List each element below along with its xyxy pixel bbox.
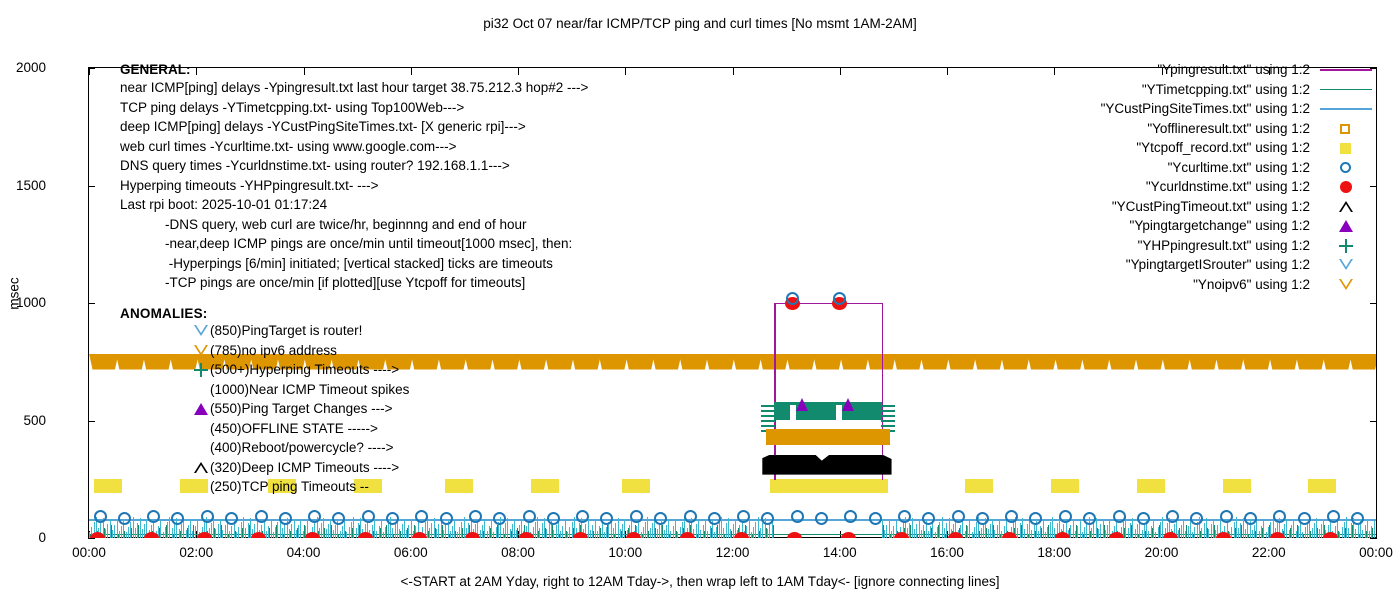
legend-label: "Ycurltime.txt" using 1:2 <box>1168 160 1310 175</box>
dns-time-marker <box>251 532 266 538</box>
hyperping-tick <box>1252 530 1253 538</box>
general-line: near ICMP[ping] delays -Ypingresult.txt … <box>120 78 588 98</box>
square-filled-icon <box>192 477 210 497</box>
hyperping-comb-tick <box>881 420 895 422</box>
curl-time-marker <box>362 510 375 523</box>
curl-time-marker <box>791 510 804 523</box>
hyperping-tick <box>670 531 671 538</box>
hyperping-tick <box>666 525 667 538</box>
legend-key <box>1316 216 1376 236</box>
hyperping-tick <box>549 524 550 538</box>
hyperping-tick <box>664 530 665 538</box>
curl-time-marker <box>1113 510 1126 523</box>
noipv6-marker <box>679 354 708 370</box>
hyperping-tick <box>767 529 768 538</box>
triangle-down-orange-icon <box>1337 275 1355 295</box>
hyperping-tick <box>726 523 727 538</box>
curl-time-marker <box>898 510 911 523</box>
hyperping-tick <box>1031 530 1032 538</box>
noipv6-marker <box>518 354 547 370</box>
hyperping-tick <box>1238 528 1239 538</box>
hyperping-comb-tick <box>761 425 775 427</box>
anomaly-row: (320)Deep ICMP Timeouts ----> <box>120 458 208 478</box>
hyperping-tick <box>650 528 651 538</box>
offline-state-band <box>766 429 889 445</box>
hyperping-tick <box>450 531 451 538</box>
curl-time-marker <box>255 510 268 523</box>
curl-time-marker <box>1166 510 1179 523</box>
hyperping-tick <box>921 530 922 538</box>
legend-label: "Ypingtargetchange" using 1:2 <box>1130 218 1310 233</box>
general-line: -DNS query, web curl are twice/hr, begin… <box>120 215 588 235</box>
curl-time-marker <box>1220 510 1233 523</box>
hyperping-tick <box>266 531 267 538</box>
dns-time-marker <box>1270 532 1285 538</box>
x-tick-label: 06:00 <box>376 545 446 560</box>
dns-time-marker <box>680 532 695 538</box>
hyperping-tick <box>994 530 995 538</box>
curl-time-marker <box>952 510 965 523</box>
tcp-timeout-block <box>531 479 559 493</box>
hyperping-tick <box>935 532 936 538</box>
hyperping-tick <box>1045 532 1046 538</box>
hyperping-tick <box>133 517 134 538</box>
noipv6-marker <box>1215 354 1244 370</box>
hyperping-tick <box>1080 521 1081 538</box>
hyperping-tick <box>231 526 232 538</box>
curl-time-marker <box>493 512 506 525</box>
curl-time-marker <box>1190 512 1203 525</box>
hyperping-tick <box>595 520 596 538</box>
x-tick-label: 08:00 <box>483 545 553 560</box>
noipv6-marker <box>1027 354 1056 370</box>
hyperping-tick <box>505 523 506 538</box>
hyperping-tick <box>615 523 616 538</box>
hyperping-tick <box>974 527 975 538</box>
hyperping-tick <box>1374 521 1375 538</box>
hyperping-tick <box>1263 521 1264 538</box>
noipv6-marker <box>1242 354 1271 370</box>
hyperping-tick <box>1256 520 1257 538</box>
legend-key <box>1316 236 1376 256</box>
hyperping-tick <box>326 529 327 538</box>
tcp-timeout-block <box>94 479 122 493</box>
hyperping-tick <box>298 525 299 538</box>
hyperping-tick <box>886 525 887 538</box>
hyperping-tick <box>222 530 223 538</box>
hyperping-tick <box>493 532 494 538</box>
legend-key <box>1316 158 1376 178</box>
tcp-timeout-block <box>965 479 993 493</box>
hyperping-tick <box>700 530 701 538</box>
hyperping-tick <box>174 523 175 538</box>
curl-time-marker <box>1137 512 1150 525</box>
hyperping-tick <box>436 529 437 538</box>
anomaly-marker <box>192 477 210 497</box>
noipv6-marker <box>813 354 842 370</box>
hyperping-tick <box>383 532 384 538</box>
legend-entry: "Ycurltime.txt" using 1:2 <box>1066 158 1376 178</box>
anomaly-row: (250)TCP ping Timeouts -- <box>120 477 208 497</box>
hyperping-tick <box>443 530 444 538</box>
hyperping-tick <box>1132 518 1133 538</box>
anomaly-row: (785)no ipv6 address <box>120 341 208 361</box>
hyperping-tick <box>140 518 141 538</box>
general-line: -TCP pings are once/min [if plotted][use… <box>120 273 588 293</box>
curl-time-marker <box>547 512 560 525</box>
hyperping-tick <box>121 526 122 538</box>
curl-time-marker <box>1273 510 1286 523</box>
anomaly-marker <box>192 399 210 419</box>
hyperping-tick <box>1093 523 1094 538</box>
y-axis-label: msec <box>7 259 22 329</box>
hyperping-tick <box>1038 531 1039 538</box>
general-line: deep ICMP[ping] delays -YCustPingSiteTim… <box>120 117 588 137</box>
hyperping-tick <box>376 531 377 538</box>
hyperping-tick <box>142 529 143 538</box>
curl-time-marker <box>576 510 589 523</box>
hyperping-tick <box>349 527 350 538</box>
hyperping-tick <box>1293 520 1294 538</box>
hyperping-tick <box>1128 528 1129 538</box>
noipv6-marker <box>1162 354 1191 370</box>
hyperping-tick <box>1022 518 1023 538</box>
hyperping-tick <box>560 531 561 538</box>
hyperping-tick <box>119 531 120 538</box>
hyperping-tick <box>487 531 488 538</box>
hyperping-tick <box>1355 529 1356 538</box>
hyperping-tick <box>969 521 970 538</box>
noipv6-marker <box>1269 354 1298 370</box>
general-line: TCP ping delays -YTimetcpping.txt- using… <box>120 98 588 118</box>
hyperping-tick <box>1342 527 1343 538</box>
hyperping-tick <box>719 522 720 538</box>
hyperping-tick <box>1142 530 1143 538</box>
hyperping-tick <box>273 532 274 538</box>
hyperping-tick <box>388 522 389 538</box>
dns-time-marker <box>1163 532 1178 538</box>
noipv6-marker <box>464 354 493 370</box>
hyperping-tick <box>981 528 982 538</box>
noipv6-marker <box>1135 354 1164 370</box>
x-tick-label: 04:00 <box>269 545 339 560</box>
curl-time-marker <box>1327 510 1340 523</box>
hyperping-tick <box>229 531 230 538</box>
hyperping-tick <box>1043 521 1044 538</box>
offline-gap <box>790 405 796 421</box>
anomaly-row: (550)Ping Target Changes ---> <box>120 399 208 419</box>
curl-time-marker <box>654 512 667 525</box>
anomaly-text: (450)OFFLINE STATE -----> <box>210 419 378 439</box>
hyperping-tick <box>762 523 763 538</box>
curl-time-marker <box>118 512 131 525</box>
legend-entry: "YCustPingSiteTimes.txt" using 1:2 <box>1066 99 1376 119</box>
dns-time-marker <box>573 532 588 538</box>
hyperping-tick <box>514 519 515 538</box>
legend-label: "Ytcpoff_record.txt" using 1:2 <box>1136 140 1310 155</box>
hyperping-tick <box>652 523 653 538</box>
noipv6-marker <box>1001 354 1030 370</box>
hyperping-tick <box>1084 527 1085 538</box>
hyperping-tick <box>1208 529 1209 538</box>
hyperping-tick <box>353 517 354 538</box>
hyperping-tick <box>429 528 430 538</box>
hyperping-tick <box>335 525 336 538</box>
hyperping-tick <box>1070 525 1071 538</box>
x-tick-label: 00:00 <box>54 545 124 560</box>
hyperping-tick <box>245 528 246 538</box>
triangle-up-filled-icon <box>1337 216 1355 236</box>
x-tick-label: 18:00 <box>1019 545 1089 560</box>
hyperping-tick <box>588 519 589 538</box>
hyperping-tick <box>1050 522 1051 538</box>
legend-key <box>1316 119 1376 139</box>
hyperping-tick <box>491 521 492 538</box>
hyperping-tick <box>914 529 915 538</box>
hyperping-tick <box>1153 521 1154 538</box>
hyperping-tick <box>1135 529 1136 538</box>
curl-time-marker <box>279 512 292 525</box>
hyperping-tick <box>431 523 432 538</box>
hyperping-tick <box>535 522 536 538</box>
hyperping-tick <box>942 517 943 538</box>
plus-icon <box>1337 236 1355 256</box>
hyperping-tick <box>976 522 977 538</box>
noipv6-marker <box>1322 354 1351 370</box>
dns-time-marker <box>734 532 749 538</box>
hyperping-tick <box>128 527 129 538</box>
tcp-tick <box>773 525 774 538</box>
legend-label: "Yofflineresult.txt" using 1:2 <box>1147 121 1310 136</box>
hyperping-tick <box>112 530 113 538</box>
hyperping-tick <box>1052 517 1053 538</box>
triangle-down-open-icon <box>192 321 210 341</box>
hyperping-tick <box>755 522 756 538</box>
hyperping-tick <box>277 522 278 538</box>
plus-icon <box>192 360 210 380</box>
hyperping-tick <box>939 522 940 538</box>
hyperping-tick <box>374 520 375 538</box>
curl-time-marker <box>1351 512 1364 525</box>
curl-time-marker <box>1005 510 1018 523</box>
dns-time-marker <box>841 532 856 538</box>
x-tick-label: 20:00 <box>1127 545 1197 560</box>
hyperping-tick <box>183 519 184 538</box>
tcp-timeout-block <box>770 479 888 493</box>
curl-time-marker <box>94 510 107 523</box>
hyperping-tick <box>659 524 660 538</box>
hyperping-tick <box>404 519 405 538</box>
hyperping-tick <box>698 519 699 538</box>
hyperping-tick <box>342 526 343 538</box>
hyperping-tick <box>1204 523 1205 538</box>
hyperping-tick <box>271 521 272 538</box>
tcp-timeout-block <box>622 479 650 493</box>
hyperping-tick <box>749 521 750 538</box>
curl-time-marker <box>469 510 482 523</box>
hyperping-tick <box>1367 520 1368 538</box>
legend-entry: "YHPpingresult.txt" using 1:2 <box>1066 236 1376 256</box>
general-line: -Hyperpings [6/min] initiated; [vertical… <box>120 254 588 274</box>
y-tick-mark <box>1370 538 1377 539</box>
x-tick-label: 10:00 <box>590 545 660 560</box>
x-tick-label: 22:00 <box>1234 545 1304 560</box>
anomaly-text: (550)Ping Target Changes ---> <box>210 399 392 419</box>
hyperping-tick <box>1160 522 1161 538</box>
anomaly-row: (1000)Near ICMP Timeout spikes <box>120 380 208 400</box>
hyperping-tick <box>997 525 998 538</box>
hyperping-tick <box>291 524 292 538</box>
hyperping-tick <box>459 527 460 538</box>
legend-entry: "Yofflineresult.txt" using 1:2 <box>1066 119 1376 139</box>
y-tick-label: 0 <box>0 531 46 544</box>
hyperping-tick <box>884 530 885 538</box>
hyperping-tick <box>163 532 164 538</box>
hyperping-tick <box>1024 529 1025 538</box>
anomaly-row: (450)OFFLINE STATE -----> <box>120 419 208 439</box>
anomaly-text: (400)Reboot/powercycle? ----> <box>210 438 393 458</box>
tcp-timeout-block <box>1051 479 1079 493</box>
hyperping-tick <box>1362 530 1363 538</box>
anomaly-row: (400)Reboot/powercycle? ----> <box>120 438 208 458</box>
legend-entry: "YTimetcpping.txt" using 1:2 <box>1066 80 1376 100</box>
noipv6-marker <box>1081 354 1110 370</box>
hyperping-tick <box>1201 528 1202 538</box>
curl-time-marker <box>386 512 399 525</box>
hyperping-tick <box>1348 528 1349 538</box>
hyperping-comb-tick <box>761 405 775 407</box>
ping-target-change-marker <box>842 398 854 411</box>
hyperping-tick <box>105 529 106 538</box>
hyperping-tick <box>1183 520 1184 538</box>
anomaly-marker <box>192 341 210 361</box>
hyperping-tick <box>677 532 678 538</box>
deep-icmp-timeout-band <box>762 455 891 475</box>
hyperping-tick <box>1100 524 1101 538</box>
noipv6-marker <box>706 354 735 370</box>
general-line: web curl times -Ycurltime.txt- using www… <box>120 137 588 157</box>
dns-time-marker <box>1002 532 1017 538</box>
hyperping-tick <box>160 521 161 538</box>
hyperping-tick <box>1346 517 1347 538</box>
anomaly-text: (785)no ipv6 address <box>210 341 337 361</box>
hyperping-tick <box>225 525 226 538</box>
hyperping-tick <box>769 524 770 538</box>
noipv6-marker <box>411 354 440 370</box>
curl-time-marker <box>684 510 697 523</box>
hyperping-tick <box>408 525 409 538</box>
hyperping-tick <box>673 526 674 538</box>
curl-time-marker <box>844 510 857 523</box>
hyperping-tick <box>135 528 136 538</box>
hyperping-tick <box>452 526 453 538</box>
legend-entry: "YpingtargetISrouter" using 1:2 <box>1066 255 1376 275</box>
anomalies-annotation-block: ANOMALIES: (850)PingTarget is router!(78… <box>120 306 208 497</box>
anomaly-text: (1000)Near ICMP Timeout spikes <box>210 380 409 400</box>
noipv6-marker <box>1108 354 1137 370</box>
hyperping-tick <box>1181 525 1182 538</box>
hyperping-tick <box>618 518 619 538</box>
dns-time-marker <box>1109 532 1124 538</box>
hyperping-comb-tick <box>881 405 895 407</box>
legend-entry: "Ycurldnstime.txt" using 1:2 <box>1066 177 1376 197</box>
hyperping-tick <box>753 527 754 538</box>
hyperping-tick <box>1319 529 1320 538</box>
hyperping-tick <box>622 524 623 538</box>
noipv6-marker <box>733 354 762 370</box>
hyperping-tick <box>181 524 182 538</box>
hyperping-tick <box>919 519 920 538</box>
hyperping-tick <box>1291 525 1292 538</box>
hyperping-tick <box>1266 532 1267 538</box>
y-tick-mark <box>88 538 95 539</box>
legend-line-swatch <box>1320 108 1372 110</box>
chart-title: pi32 Oct 07 near/far ICMP/TCP ping and c… <box>0 16 1400 31</box>
legend-key <box>1316 275 1376 295</box>
x-tick-label: 00:00 <box>1341 545 1400 560</box>
hyperping-tick <box>928 531 929 538</box>
hyperping-tick <box>569 527 570 538</box>
curl-time-marker <box>737 510 750 523</box>
legend-entry: "Ypingresult.txt" using 1:2 <box>1066 60 1376 80</box>
hyperping-comb-tick <box>761 410 775 412</box>
hyperping-tick <box>983 523 984 538</box>
legend-key <box>1316 255 1376 275</box>
curl-time-marker <box>147 510 160 523</box>
anomaly-row: (850)PingTarget is router! <box>120 321 208 341</box>
hyperping-tick <box>1339 532 1340 538</box>
anomaly-row: (500+)Hyperping Timeouts ----> <box>120 360 208 380</box>
legend-entry: "Ypingtargetchange" using 1:2 <box>1066 216 1376 236</box>
hyperping-tick <box>284 523 285 538</box>
hyperping-tick <box>556 525 557 538</box>
hyperping-tick <box>195 526 196 538</box>
noipv6-marker <box>1296 354 1325 370</box>
hyperping-tick <box>512 524 513 538</box>
hyperping-tick <box>381 521 382 538</box>
hyperping-tick <box>1194 527 1195 538</box>
hyperping-tick <box>236 532 237 538</box>
hyperping-tick <box>1305 527 1306 538</box>
hyperping-tick <box>705 520 706 538</box>
x-axis-caption: <-START at 2AM Yday, right to 12AM Tday-… <box>0 574 1400 589</box>
hyperping-tick <box>1298 526 1299 538</box>
hyperping-tick <box>604 532 605 538</box>
hyperping-tick <box>1077 526 1078 538</box>
hyperping-tick <box>188 525 189 538</box>
y-tick-label: 1000 <box>0 296 46 309</box>
anomaly-text: (500+)Hyperping Timeouts ----> <box>210 360 399 380</box>
noipv6-marker <box>625 354 654 370</box>
curl-time-marker <box>201 510 214 523</box>
noipv6-marker <box>947 354 976 370</box>
legend-label: "Ycurldnstime.txt" using 1:2 <box>1146 179 1310 194</box>
hyperping-tick <box>1107 525 1108 538</box>
triangle-up-filled-icon <box>192 399 210 419</box>
hyperping-tick <box>1259 531 1260 538</box>
y-tick-label: 1500 <box>0 179 46 192</box>
legend-label: "Ynoipv6" using 1:2 <box>1193 277 1310 292</box>
general-line: DNS query times -Ycurldnstime.txt- using… <box>120 156 588 176</box>
legend-entry: "YCustPingTimeout.txt" using 1:2 <box>1066 197 1376 217</box>
hyperping-comb-tick <box>761 415 775 417</box>
curl-time-marker <box>922 512 935 525</box>
curl-time-marker <box>761 512 774 525</box>
hyperping-tick <box>169 517 170 538</box>
near-icmp-spike-edge <box>882 303 883 480</box>
anomaly-text: (850)PingTarget is router! <box>210 321 362 341</box>
hyperping-tick <box>1190 521 1191 538</box>
